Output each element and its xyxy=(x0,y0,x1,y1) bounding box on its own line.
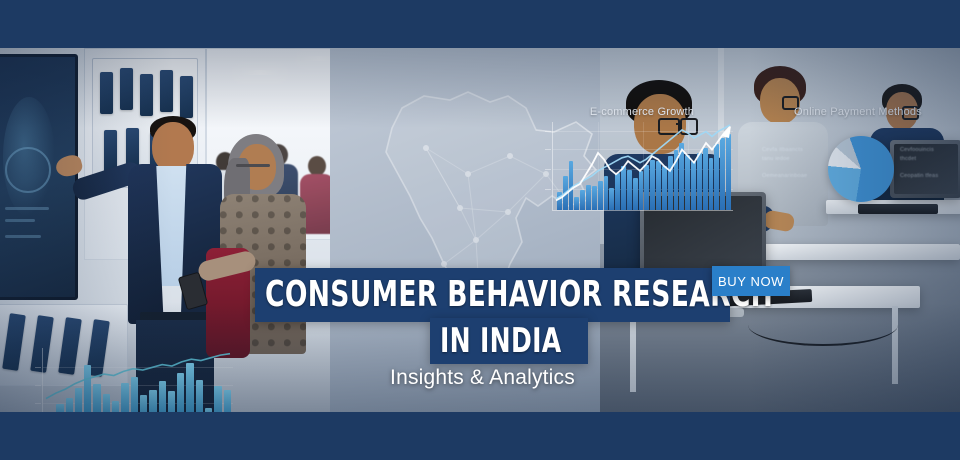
headline-box-line2: IN INDIA xyxy=(430,318,588,364)
pie-label-right: Cevfoouincis xyxy=(900,146,934,155)
chart-offline-sales-trends: Offline Sales Trends xyxy=(42,348,232,412)
axis-tick xyxy=(35,403,41,404)
pie-label-right: thcdet xyxy=(900,155,916,164)
screen-text-line xyxy=(5,207,49,210)
axis-tick xyxy=(35,367,41,368)
pie-label-left: tanu iedoe xyxy=(762,155,790,164)
promo-banner: E-commerce Growth xyxy=(0,0,960,460)
chart-plot-area xyxy=(42,348,233,412)
pie-label-left: Cevfa itbaancts xyxy=(762,146,803,155)
axis-tick xyxy=(545,169,551,170)
desk-middle xyxy=(750,244,960,260)
headline-box-line1: CONSUMER BEHAVIOR RESEARCH xyxy=(255,268,730,322)
chart-plot-area xyxy=(552,122,733,211)
screen-text-line xyxy=(5,235,41,238)
axis-tick xyxy=(35,385,41,386)
trend-line-bright xyxy=(556,125,730,199)
buy-now-button[interactable]: BUY NOW xyxy=(712,266,790,296)
subtitle: Insights & Analytics xyxy=(255,366,710,390)
pie-label-right: Ceopatin tfeas xyxy=(900,172,938,181)
chart-trend-lines-ecommerce xyxy=(553,122,733,210)
chart-ecommerce-growth: E-commerce Growth xyxy=(552,106,732,216)
trend-line-teal xyxy=(46,354,230,399)
chart-title: E-commerce Growth xyxy=(552,106,732,118)
chart-title: Online Payment Methods xyxy=(760,106,956,118)
headline-line1: CONSUMER BEHAVIOR RESEARCH xyxy=(265,277,773,313)
pie-chart xyxy=(828,136,894,202)
ceiling-light xyxy=(238,70,282,75)
chart-trend-lines-offline xyxy=(43,348,233,412)
trend-line-white xyxy=(556,127,730,201)
axis-tick xyxy=(545,189,551,190)
headline-line2: IN INDIA xyxy=(440,324,562,358)
screen-ring-graphic xyxy=(5,147,51,193)
scene-office xyxy=(600,48,960,412)
axis-tick xyxy=(545,131,551,132)
phone-product xyxy=(100,72,113,114)
chart-online-payment-methods: Online Payment Methods Cevfa itbaancts t… xyxy=(760,106,956,218)
store-display-screen xyxy=(0,54,78,300)
eyeglasses xyxy=(236,164,270,167)
screen-text-line xyxy=(5,219,35,222)
pie-label-left: Oemeanarinboae xyxy=(762,172,807,181)
axis-tick xyxy=(545,149,551,150)
